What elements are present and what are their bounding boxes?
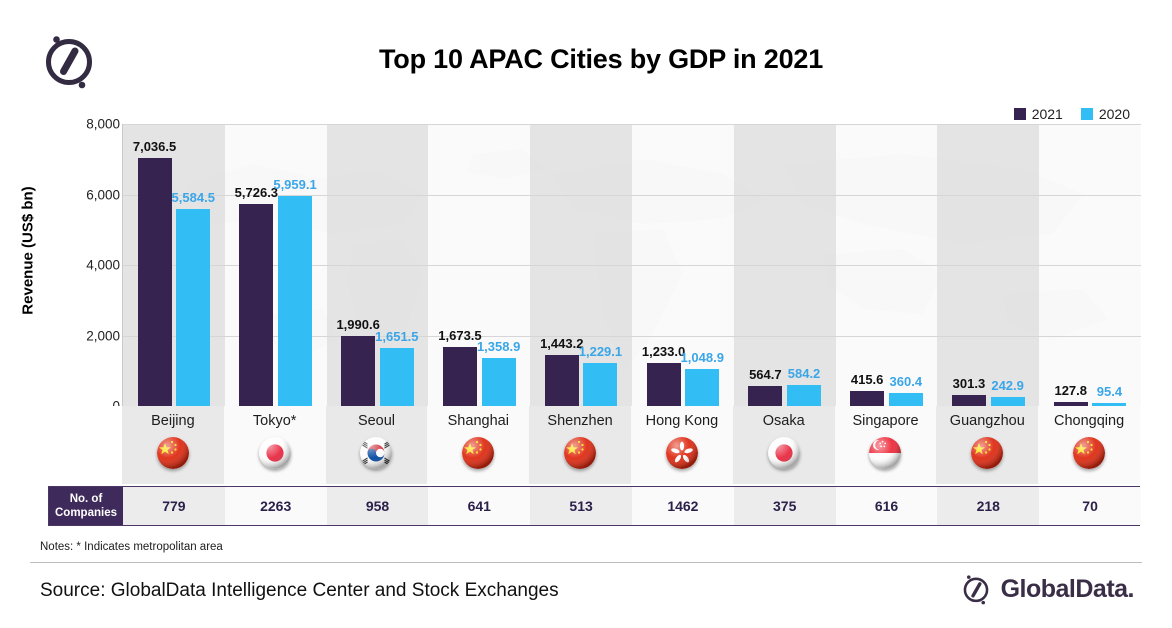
flag-icon-japan xyxy=(768,437,800,469)
globaldata-wordmark: GlobalData. xyxy=(1001,575,1134,604)
companies-header-line1: No. of xyxy=(70,493,103,505)
bar-2021-osaka[interactable] xyxy=(748,386,782,406)
bar-value-label: 584.2 xyxy=(775,366,833,381)
gridline xyxy=(123,265,1141,266)
bar-2020-singapore[interactable] xyxy=(889,393,923,406)
bar-value-label: 7,036.5 xyxy=(126,139,184,154)
bar-value-label: 1,358.9 xyxy=(470,339,528,354)
companies-value-cell: 2263 xyxy=(225,487,327,525)
city-cell-shenzhen[interactable]: Shenzhen xyxy=(529,406,631,484)
city-label: Tokyo* xyxy=(253,413,297,429)
flag-icon-china xyxy=(564,437,596,469)
bar-2020-seoul[interactable] xyxy=(380,348,414,406)
city-cell-osaka[interactable]: Osaka xyxy=(733,406,835,484)
flag-icon-china xyxy=(462,437,494,469)
flag-icon-china xyxy=(1073,437,1105,469)
flag-icon-hong-kong xyxy=(666,437,698,469)
city-label: Singapore xyxy=(852,413,918,429)
city-label: Guangzhou xyxy=(950,413,1025,429)
city-label: Chongqing xyxy=(1054,413,1124,429)
bar-2021-shanghai[interactable] xyxy=(443,347,477,406)
city-cell-chongqing[interactable]: Chongqing xyxy=(1038,406,1140,484)
bar-2020-shenzhen[interactable] xyxy=(583,363,617,406)
plot-area: 7,036.55,584.55,726.35,959.11,990.61,651… xyxy=(122,124,1141,406)
city-cell-seoul[interactable]: Seoul xyxy=(326,406,428,484)
companies-value-cell: 641 xyxy=(428,487,530,525)
y-axis-ticks: 02,0004,0006,0008,000 xyxy=(48,124,120,406)
city-label: Shenzhen xyxy=(547,413,612,429)
footer-divider xyxy=(30,562,1142,563)
companies-value-cell: 70 xyxy=(1039,487,1141,525)
legend-label-2020: 2020 xyxy=(1099,106,1130,122)
legend-swatch-2021 xyxy=(1014,108,1026,120)
chart-plot-wrapper: Revenue (US$ bn) 02,0004,0006,0008,000 7… xyxy=(0,124,1172,414)
city-cell-shanghai[interactable]: Shanghai xyxy=(427,406,529,484)
bar-2020-hongkong[interactable] xyxy=(685,369,719,406)
city-cell-singapore[interactable]: Singapore xyxy=(835,406,937,484)
flag-icon-singapore xyxy=(869,437,901,469)
bar-2021-tokyo[interactable] xyxy=(239,204,273,406)
y-axis-tick-label: 2,000 xyxy=(50,328,120,343)
city-row: Beijing Tokyo* Seoul xyxy=(48,406,1140,484)
legend-item-2021[interactable]: 2021 xyxy=(1014,106,1063,122)
y-axis-tick-label: 6,000 xyxy=(50,187,120,202)
category-table: Beijing Tokyo* Seoul xyxy=(48,406,1140,526)
globaldata-footer-logo: GlobalData. xyxy=(959,572,1134,606)
legend-item-2020[interactable]: 2020 xyxy=(1081,106,1130,122)
city-cell-guangzhou[interactable]: Guangzhou xyxy=(936,406,1038,484)
companies-value-cell: 513 xyxy=(530,487,632,525)
chart-legend: 2021 2020 xyxy=(1014,106,1130,122)
companies-row-header: No. ofCompanies xyxy=(49,487,123,525)
city-row-corner xyxy=(48,406,122,484)
companies-header-line2: Companies xyxy=(55,507,117,519)
companies-value-cell: 779 xyxy=(123,487,225,525)
flag-icon-japan xyxy=(259,437,291,469)
city-label: Osaka xyxy=(763,413,805,429)
gridline xyxy=(123,124,1141,125)
y-axis-tick-label: 8,000 xyxy=(50,117,120,132)
bar-value-label: 95.4 xyxy=(1080,384,1138,399)
bar-2021-singapore[interactable] xyxy=(850,391,884,406)
city-cell-tokyo[interactable]: Tokyo* xyxy=(224,406,326,484)
chart-title-text: Top 10 APAC Cities by GDP in 2021 xyxy=(379,44,823,75)
companies-value-cell: 1462 xyxy=(632,487,734,525)
companies-value-cell: 958 xyxy=(327,487,429,525)
companies-row: No. ofCompanies 779226395864151314623756… xyxy=(48,486,1140,526)
source-text: Source: GlobalData Intelligence Center a… xyxy=(40,580,559,602)
bar-value-label: 242.9 xyxy=(979,378,1037,393)
bar-2021-seoul[interactable] xyxy=(341,336,375,406)
bar-2021-hongkong[interactable] xyxy=(647,363,681,406)
companies-value-cell: 218 xyxy=(937,487,1039,525)
city-label: Beijing xyxy=(151,413,195,429)
legend-label-2021: 2021 xyxy=(1032,106,1063,122)
city-label: Seoul xyxy=(358,413,395,429)
bar-2021-shenzhen[interactable] xyxy=(545,355,579,406)
notes-text: Notes: * Indicates metropolitan area xyxy=(40,541,223,553)
legend-swatch-2020 xyxy=(1081,108,1093,120)
page-title: Top 10 APAC Cities by GDP in 2021 xyxy=(0,44,1172,75)
flag-icon-china xyxy=(157,437,189,469)
city-label: Shanghai xyxy=(448,413,509,429)
flag-icon-china xyxy=(971,437,1003,469)
gridline xyxy=(123,336,1141,337)
city-cell-hongkong[interactable]: Hong Kong xyxy=(631,406,733,484)
bar-2020-beijing[interactable] xyxy=(176,209,210,406)
globaldata-mark-icon xyxy=(959,572,993,606)
bar-value-label: 1,229.1 xyxy=(571,344,629,359)
bar-2020-guangzhou[interactable] xyxy=(991,397,1025,406)
city-label: Hong Kong xyxy=(646,413,719,429)
city-cell-beijing[interactable]: Beijing xyxy=(122,406,224,484)
flag-icon-south-korea xyxy=(360,437,392,469)
y-axis-title: Revenue (US$ bn) xyxy=(20,131,37,371)
bar-value-label: 5,584.5 xyxy=(164,190,222,205)
bar-value-label: 1,651.5 xyxy=(368,329,426,344)
bar-2020-osaka[interactable] xyxy=(787,385,821,406)
companies-value-cell: 616 xyxy=(836,487,938,525)
y-axis-tick-label: 4,000 xyxy=(50,258,120,273)
companies-value-cell: 375 xyxy=(734,487,836,525)
bar-value-label: 5,959.1 xyxy=(266,177,324,192)
bar-2021-guangzhou[interactable] xyxy=(952,395,986,406)
bar-2020-shanghai[interactable] xyxy=(482,358,516,406)
bar-value-label: 1,048.9 xyxy=(673,350,731,365)
bar-2020-tokyo[interactable] xyxy=(278,196,312,406)
bar-value-label: 360.4 xyxy=(877,374,935,389)
